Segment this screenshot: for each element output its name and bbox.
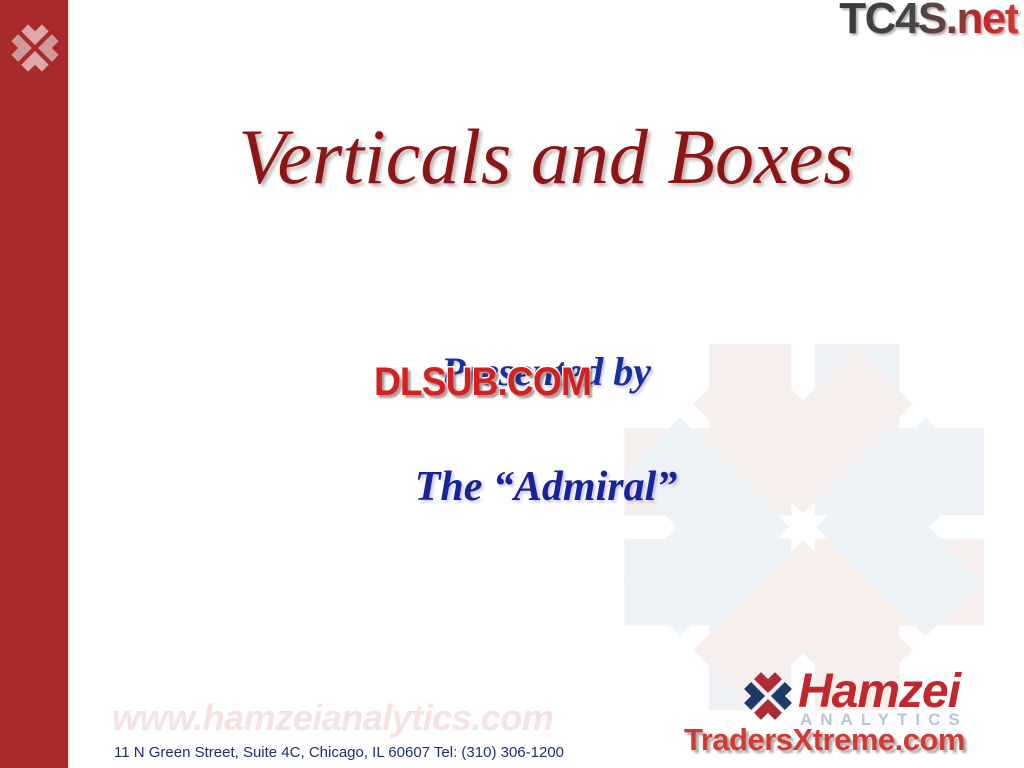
pinwheel-icon <box>742 670 794 722</box>
sidebar <box>0 0 68 768</box>
tradersxtreme-watermark: TradersXtreme.com <box>684 722 965 758</box>
presenter-name: The “Admiral” <box>68 463 1024 511</box>
tc4s-watermark: TC4S.net <box>839 0 1018 44</box>
site-url-watermark: www.hamzeianalytics.com <box>112 697 553 739</box>
dlsub-watermark: DLSUB.COM <box>374 360 591 405</box>
pinwheel-icon <box>8 20 62 76</box>
footer-address: 11 N Green Street, Suite 4C, Chicago, IL… <box>114 744 564 761</box>
page-title: Verticals and Boxes <box>68 112 1024 202</box>
hamzei-analytics-logo: Hamzei ANALYTICS <box>742 668 1024 730</box>
presentation-slide: TC4S.net Verticals and Boxes Presented b… <box>0 0 1024 768</box>
